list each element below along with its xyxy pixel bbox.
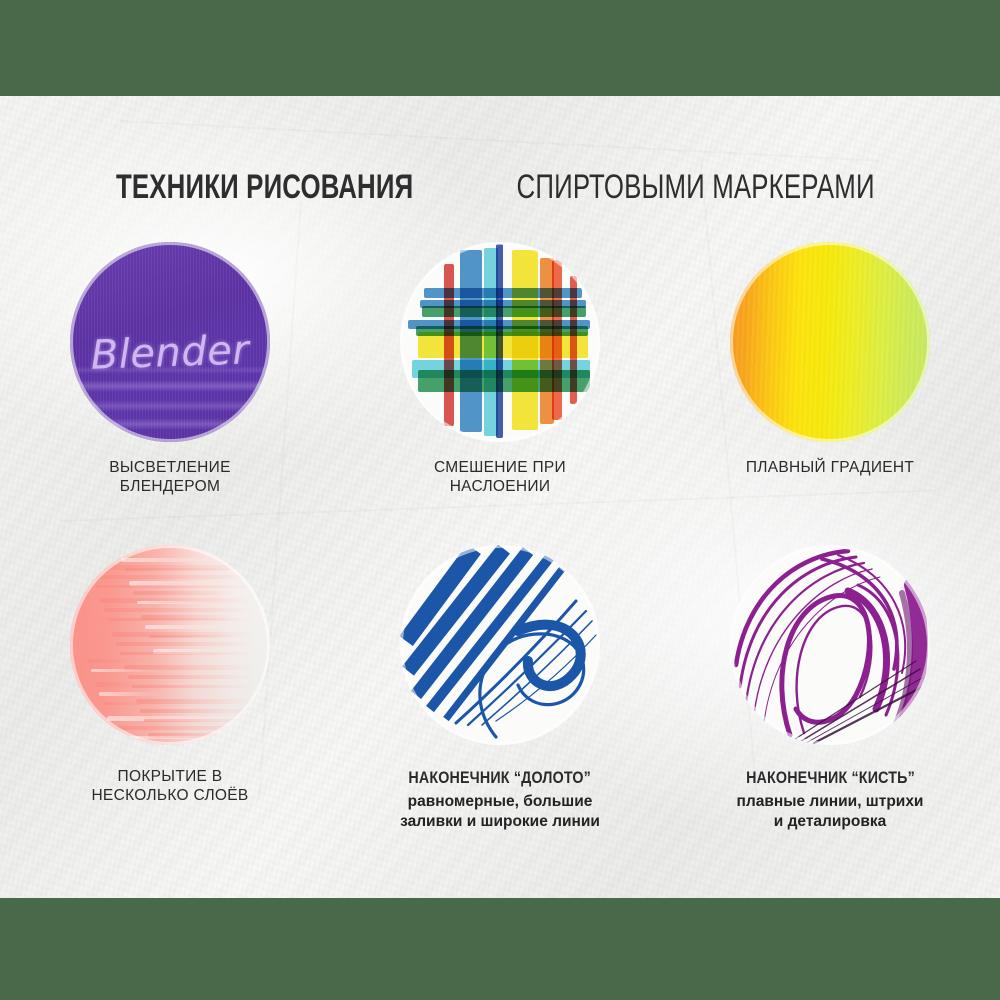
pink-streak [125,568,234,571]
sample-disc-multilayer [70,545,270,745]
pink-streak [120,652,254,655]
sample-wrap-layering [400,242,600,442]
pink-streak [121,558,234,562]
pink-streak [140,709,254,713]
sample-wrap-chisel [400,545,600,745]
poster: ТЕХНИКИ РИСОВАНИЯСПИРТОВЫМИ МАРКЕРАМИ Bl… [0,0,1000,1000]
card-brush[interactable]: НАКОНЕЧНИК “КИСТЬ” плавные линии, штрихи… [670,545,990,832]
brush-curve-stroke [746,563,864,703]
title-strong-part: ТЕХНИКИ РИСОВАНИЯ [116,168,413,207]
card-label: ВЫСВЕТЛЕНИЕ БЛЕНДЕРОМ [10,458,330,497]
pink-streak [104,608,254,612]
pink-streak [144,719,254,722]
sample-disc-blender: Blender [70,242,270,442]
brush-stroke-art [730,545,930,745]
caption-chisel: НАКОНЕЧНИК “ДОЛОТО” равномерные, большие… [340,767,660,832]
brush-curve-stroke [782,596,870,735]
pink-streak [103,702,164,705]
card-label: ПЛАВНЫЙ ГРАДИЕНТ [670,458,990,477]
chisel-thick-stroke [416,551,528,695]
pink-streak [133,591,234,595]
sample-disc-gradient [730,242,930,442]
brush-curve-stroke [736,551,848,665]
card-label: НАКОНЕЧНИК “КИСТЬ” [746,767,915,788]
sample-wrap-blender: Blender [70,242,270,442]
caption-layering: СМЕШЕНИЕ ПРИ НАСЛОЕНИИ [340,458,660,497]
caption-brush: НАКОНЕЧНИК “КИСТЬ” плавные линии, штрихи… [670,767,990,832]
top-green-band [0,0,1000,96]
plaid-strokes [400,242,600,442]
sample-disc-layering [400,242,600,442]
card-label: ПОКРЫТИЕ В НЕСКОЛЬКО СЛОЁВ [10,767,330,806]
pink-streak [132,685,254,688]
card-gradient[interactable]: ПЛАВНЫЙ ГРАДИЕНТ [670,242,990,477]
card-layering[interactable]: СМЕШЕНИЕ ПРИ НАСЛОЕНИИ [340,242,660,497]
pink-streak [128,675,254,679]
pink-streak [145,625,234,629]
caption-blender: ВЫСВЕТЛЕНИЕ БЛЕНДЕРОМ [10,458,330,497]
plaid-stroke [418,370,590,392]
paper-background [0,0,1000,1000]
card-chisel[interactable]: НАКОНЕЧНИК “ДОЛОТО” равномерные, большие… [340,545,660,832]
plaid-stroke [424,288,582,298]
card-sublabel: плавные линии, штрихи и деталировка [670,792,990,832]
sample-disc-chisel [400,545,600,745]
pink-streak [108,618,254,621]
caption-multilayer: ПОКРЫТИЕ В НЕСКОЛЬКО СЛОЁВ [10,767,330,806]
page-title: ТЕХНИКИ РИСОВАНИЯСПИРТОВЫМИ МАРКЕРАМИ [0,168,1000,207]
sample-wrap-gradient [730,242,930,442]
pink-streak [111,726,270,730]
pink-streak [91,669,164,672]
title-light-part: СПИРТОВЫМИ МАРКЕРАМИ [517,168,875,207]
chisel-stroke-art [400,545,600,745]
pink-streaks [70,545,270,745]
pink-streak [87,659,164,663]
pink-streak [96,585,254,588]
card-blender[interactable]: Blender ВЫСВЕТЛЕНИЕ БЛЕНДЕРОМ [10,242,330,497]
pink-streak [92,575,254,579]
plaid-stroke [422,306,586,317]
plaid-stroke [418,332,588,358]
pink-streak [149,635,234,638]
caption-gradient: ПЛАВНЫЙ ГРАДИЕНТ [670,458,990,477]
pink-streak [116,642,254,646]
bottom-green-band [0,898,1000,1000]
card-multilayer[interactable]: ПОКРЫТИЕ В НЕСКОЛЬКО СЛОЁВ [10,545,330,806]
pink-streak [115,736,270,739]
pink-streak [137,601,234,604]
card-label: НАКОНЕЧНИК “ДОЛОТО” [409,767,592,788]
pink-streak [99,692,164,696]
sample-disc-brush [730,545,930,745]
sample-wrap-multilayer [70,545,270,745]
blender-handwriting: Blender [77,327,262,379]
pink-streak [84,551,144,554]
card-label: СМЕШЕНИЕ ПРИ НАСЛОЕНИИ [340,458,660,497]
sample-wrap-brush [730,545,930,745]
card-sublabel: равномерные, большие заливки и широкие л… [340,792,660,832]
